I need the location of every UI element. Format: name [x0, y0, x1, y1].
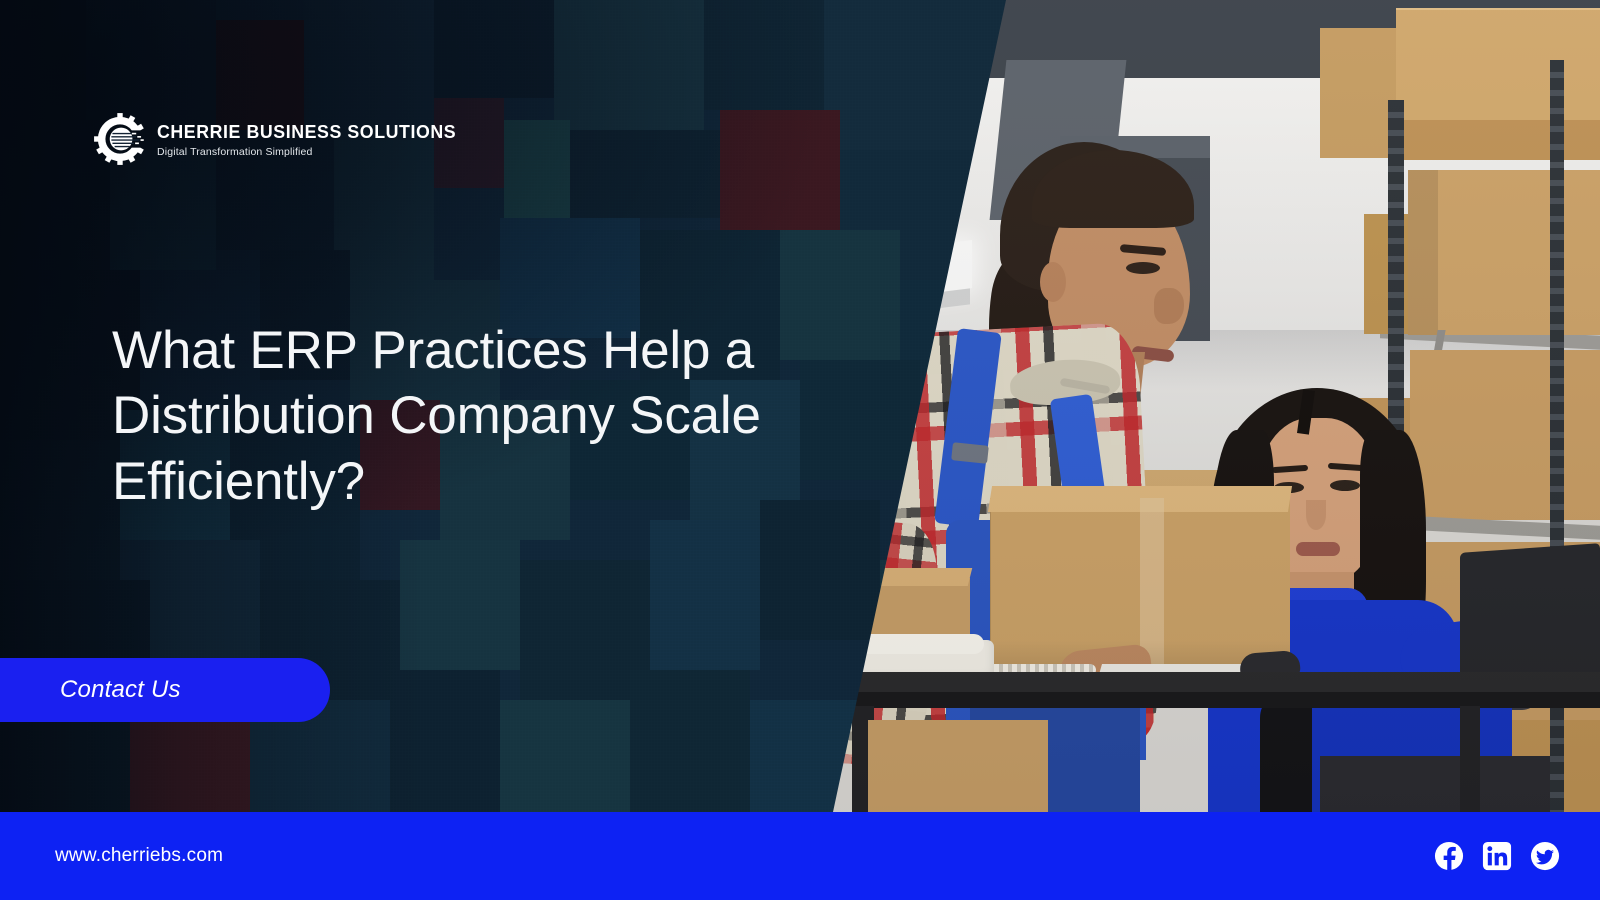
brand-logo[interactable]: CHERRIE BUSINESS SOLUTIONS Digital Trans…: [93, 112, 469, 166]
contact-us-label: Contact Us: [60, 676, 181, 704]
telephone-handset: [852, 634, 984, 654]
contact-us-button[interactable]: Contact Us: [0, 658, 330, 722]
social-links: [1434, 841, 1560, 871]
linkedin-icon[interactable]: [1482, 841, 1512, 871]
desk-leg: [1460, 706, 1480, 812]
shelf-box: [1410, 350, 1600, 520]
man-overall-clip: [951, 442, 989, 464]
page-title: What ERP Practices Help a Distribution C…: [112, 318, 812, 515]
man-eye: [1126, 262, 1160, 274]
man-nose: [1154, 288, 1184, 324]
logo-wordmark: CHERRIE BUSINESS SOLUTIONS Digital Trans…: [157, 121, 469, 157]
footer-bar: www.cherriebs.com: [0, 812, 1600, 900]
desk-edge: [800, 692, 1600, 708]
woman-eye: [1330, 480, 1360, 491]
website-url[interactable]: www.cherriebs.com: [55, 845, 223, 867]
logo-tagline: Digital Transformation Simplified: [157, 147, 469, 158]
logo-company-name: CHERRIE BUSINESS SOLUTIONS: [157, 123, 456, 142]
twitter-icon[interactable]: [1530, 841, 1560, 871]
man-ear: [1040, 262, 1066, 302]
facebook-icon[interactable]: [1434, 841, 1464, 871]
banner-canvas: CHERRIE BUSINESS SOLUTIONS Digital Trans…: [0, 0, 1600, 900]
floor-cardboard-box: [868, 720, 1048, 812]
shelf-box-shade: [1408, 170, 1438, 335]
shelf-box-face: [1396, 120, 1600, 160]
woman-trousers: [1320, 756, 1550, 812]
gear-c-logo-icon: [93, 112, 147, 166]
woman-nose: [1306, 500, 1326, 530]
woman-lips: [1296, 542, 1340, 556]
